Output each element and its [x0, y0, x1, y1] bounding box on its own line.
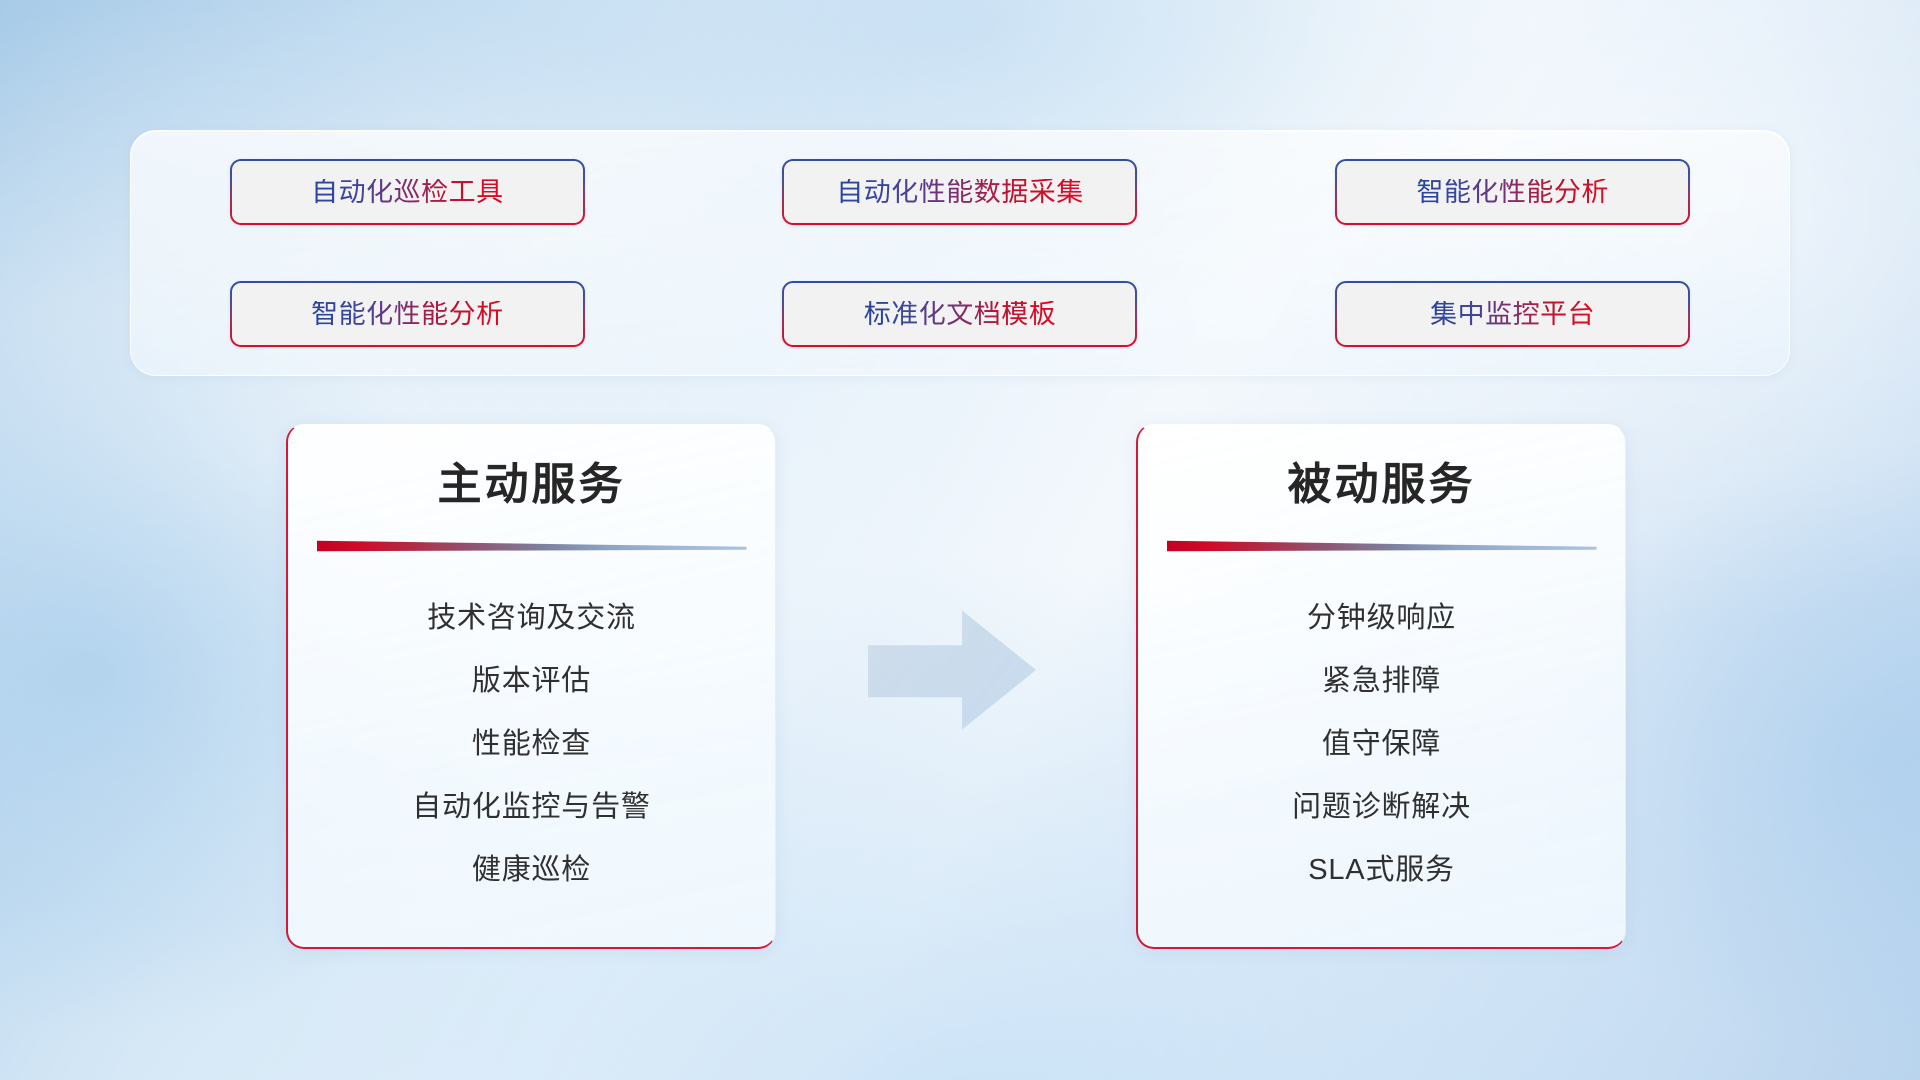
capability-pill-inner: 集中监控平台 [1337, 283, 1688, 345]
capability-pill-label: 集中监控平台 [1430, 301, 1595, 328]
list-item: 健康巡检 [472, 839, 591, 902]
list-item: SLA式服务 [1308, 839, 1455, 902]
infographic-stage: 自动化巡检工具 自动化性能数据采集 智能化性能分析 智能化性能分析 [0, 0, 1920, 1080]
capability-pill-2[interactable]: 自动化性能数据采集 [782, 159, 1137, 225]
card-title: 主动服务 [288, 459, 775, 510]
capability-pill-label: 自动化性能数据采集 [836, 179, 1084, 206]
capability-pill-5[interactable]: 标准化文档模板 [782, 281, 1137, 347]
list-item: 技术咨询及交流 [427, 587, 636, 650]
service-card-reactive: 被动服务 分钟级响应 紧急排障 值守保障 问题诊断解决 SLA式服务 [1136, 424, 1626, 949]
list-item: 分钟级响应 [1307, 587, 1456, 650]
service-list: 分钟级响应 紧急排障 值守保障 问题诊断解决 SLA式服务 [1138, 587, 1625, 902]
divider-bar [1167, 538, 1597, 553]
capability-pill-inner: 自动化性能数据采集 [784, 161, 1135, 223]
capability-pill-label: 标准化文档模板 [864, 301, 1057, 328]
capability-panel: 自动化巡检工具 自动化性能数据采集 智能化性能分析 智能化性能分析 [130, 130, 1790, 376]
capability-pill-inner: 自动化巡检工具 [232, 161, 583, 223]
capability-pill-label: 自动化巡检工具 [311, 179, 504, 206]
list-item: 版本评估 [472, 650, 591, 713]
capability-pill-label: 智能化性能分析 [1416, 179, 1609, 206]
list-item: 紧急排障 [1322, 650, 1441, 713]
list-item: 自动化监控与告警 [412, 776, 650, 839]
service-list: 技术咨询及交流 版本评估 性能检查 自动化监控与告警 健康巡检 [288, 587, 775, 902]
capability-pill-label: 智能化性能分析 [311, 301, 504, 328]
card-divider [317, 538, 747, 553]
capability-pill-3[interactable]: 智能化性能分析 [1335, 159, 1690, 225]
capability-pill-1[interactable]: 自动化巡检工具 [230, 159, 585, 225]
service-card-proactive: 主动服务 技术咨询及交流 版本评估 性能检查 自动化监控与告警 健康巡检 [286, 424, 776, 949]
capability-grid: 自动化巡检工具 自动化性能数据采集 智能化性能分析 智能化性能分析 [131, 131, 1789, 375]
capability-pill-4[interactable]: 智能化性能分析 [230, 281, 585, 347]
card-title: 被动服务 [1138, 459, 1625, 510]
list-item: 性能检查 [472, 713, 591, 776]
capability-pill-inner: 智能化性能分析 [1337, 161, 1688, 223]
capability-pill-inner: 标准化文档模板 [784, 283, 1135, 345]
capability-pill-inner: 智能化性能分析 [232, 283, 583, 345]
capability-pill-6[interactable]: 集中监控平台 [1335, 281, 1690, 347]
arrow-right-icon [868, 608, 1036, 732]
list-item: 问题诊断解决 [1292, 776, 1471, 839]
card-divider [1167, 538, 1597, 553]
divider-bar [317, 538, 747, 553]
list-item: 值守保障 [1322, 713, 1441, 776]
